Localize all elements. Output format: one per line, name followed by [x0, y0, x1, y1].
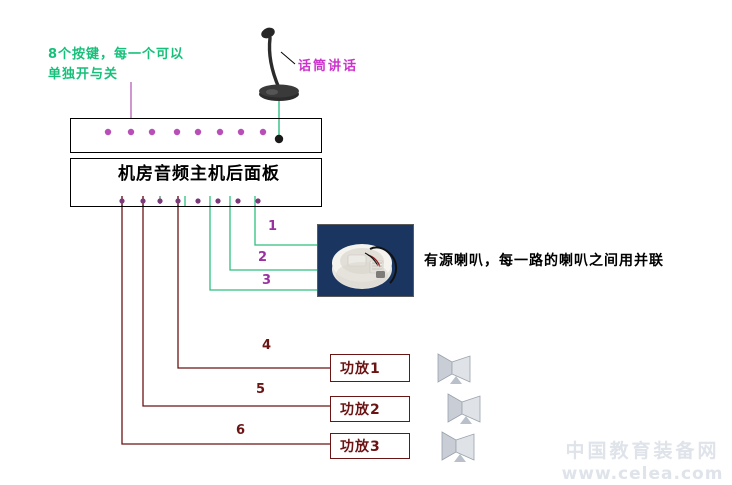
green-wire-2 — [230, 205, 320, 270]
microphone-icon — [259, 26, 299, 101]
amplifier-box-3[interactable]: 功放3 — [330, 433, 410, 459]
buttons-note-line2: 单独开与关 — [48, 68, 118, 81]
line-label-5: 5 — [256, 383, 265, 396]
top-panel-box — [70, 118, 322, 153]
leader-line-mic — [281, 52, 295, 64]
diagram-canvas: 机房音频主机后面板 8个按键，每一个可以 单独开与关 话筒讲话 有源喇叭，每一路… — [0, 0, 732, 485]
speaker-note: 有源喇叭，每一路的喇叭之间用并联 — [424, 254, 664, 268]
watermark-line2: www.celea.com — [560, 464, 725, 484]
line-label-1: 1 — [268, 220, 277, 233]
horn-speaker-2 — [448, 394, 480, 424]
buttons-note-line1: 8个按键，每一个可以 — [48, 48, 184, 61]
line-label-4: 4 — [262, 339, 271, 352]
line-label-2: 2 — [258, 251, 267, 264]
mic-label: 话筒讲话 — [298, 60, 358, 73]
amplifier-box-1[interactable]: 功放1 — [330, 354, 410, 382]
maroon-wire-4 — [178, 205, 330, 368]
maroon-wire-5 — [143, 205, 330, 406]
rear-panel-title: 机房音频主机后面板 — [118, 166, 280, 183]
amplifier-label-1: 功放1 — [331, 358, 381, 378]
watermark-line1: 中国教育装备网 — [560, 436, 725, 463]
line-label-6: 6 — [236, 424, 245, 437]
amplifier-label-2: 功放2 — [331, 399, 381, 419]
line-label-3: 3 — [262, 274, 271, 287]
amplifier-label-3: 功放3 — [331, 436, 381, 456]
watermark: 中国教育装备网 www.celea.com — [560, 436, 725, 484]
amplifier-box-2[interactable]: 功放2 — [330, 396, 410, 422]
horn-speaker-1 — [438, 354, 470, 384]
ceiling-speaker-photo — [317, 224, 414, 297]
ceiling-speaker-image — [318, 225, 413, 296]
maroon-wire-6 — [122, 205, 330, 444]
green-wire-1 — [255, 205, 320, 245]
horn-speaker-3 — [442, 432, 474, 462]
